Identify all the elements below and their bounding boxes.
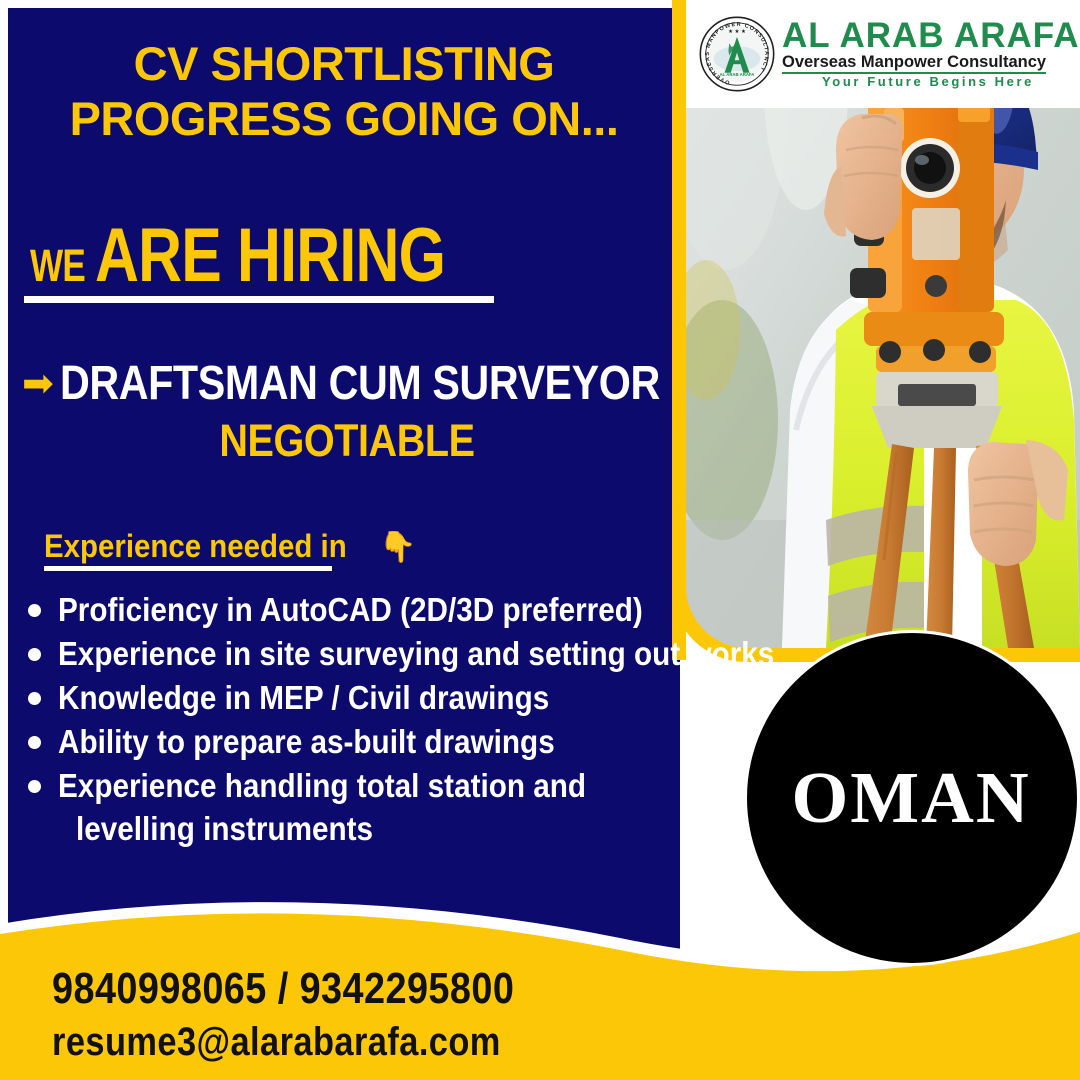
right-arrow-icon: ➡: [22, 365, 54, 403]
contact-block: 9840998065 / 9342295800 resume3@alarabar…: [52, 962, 590, 1066]
requirements-list: Proficiency in AutoCAD (2D/3D preferred)…: [18, 588, 678, 851]
hiring-underline: [24, 296, 494, 303]
job-salary: NEGOTIABLE: [61, 415, 633, 467]
job-title-row: ➡ DRAFTSMAN CUM SURVEYOR: [22, 356, 672, 411]
logo-text-block: AL ARAB ARAFA Overseas Manpower Consulta…: [782, 18, 1080, 90]
we-are-hiring-heading: WEARE HIRING: [30, 212, 532, 299]
contact-phone[interactable]: 9840998065 / 9342295800: [52, 962, 514, 1016]
experience-heading-label: Experience needed in: [44, 528, 347, 565]
hiring-are-hiring-words: ARE HIRING: [95, 212, 445, 299]
experience-heading: Experience needed in👇: [44, 528, 416, 565]
headline-line-1: CV SHORTLISTING: [8, 36, 680, 91]
list-item: Proficiency in AutoCAD (2D/3D preferred): [18, 588, 678, 632]
list-item: Ability to prepare as-built drawings: [18, 720, 678, 764]
list-item: Experience in site surveying and setting…: [18, 632, 678, 676]
list-item-continuation: levelling instruments: [18, 807, 678, 851]
country-badge-label: OMAN: [744, 630, 1080, 966]
hiring-we-word: WE: [30, 240, 85, 292]
list-item: Experience handling total station and: [18, 764, 678, 808]
recruitment-poster: ★ ★ ★ AL ARAB ARAFA OVERSEAS MANPOWER CO…: [0, 0, 1080, 1080]
svg-text:AL ARAB ARAFA: AL ARAB ARAFA: [720, 72, 755, 77]
experience-underline: [44, 566, 332, 571]
job-title: DRAFTSMAN CUM SURVEYOR: [60, 356, 660, 411]
company-logo-bar: ★ ★ ★ AL ARAB ARAFA OVERSEAS MANPOWER CO…: [686, 0, 1080, 108]
page-title: CV SHORTLISTING PROGRESS GOING ON...: [8, 36, 680, 147]
headline-line-2: PROGRESS GOING ON...: [8, 91, 680, 146]
logo-title: AL ARAB ARAFA: [782, 18, 1080, 53]
country-badge: OMAN: [744, 630, 1080, 966]
company-seal-icon: ★ ★ ★ AL ARAB ARAFA OVERSEAS MANPOWER CO…: [698, 15, 776, 93]
list-item: Knowledge in MEP / Civil drawings: [18, 676, 678, 720]
logo-subtitle: Overseas Manpower Consultancy: [782, 53, 1046, 74]
contact-email[interactable]: resume3@alarabarafa.com: [52, 1018, 514, 1067]
svg-text:★ ★ ★: ★ ★ ★: [728, 29, 746, 35]
pointing-down-hand-icon: 👇: [379, 531, 416, 564]
logo-tagline: Your Future Begins Here: [782, 74, 1080, 90]
